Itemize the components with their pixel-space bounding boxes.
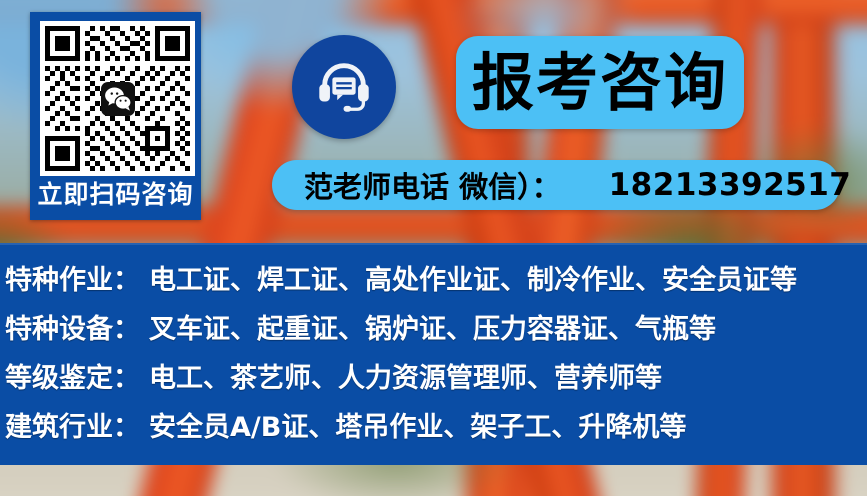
info-row-special-operations: 特种作业： 电工证、焊工证、高处作业证、制冷作业、安全员证等 [5, 257, 867, 305]
promo-poster: 立即扫码咨询 报考咨询 范老师电话 微信）： 18213392517 特种作业：… [0, 0, 867, 496]
info-row-value: 叉车证、起重证、锅炉证、压力容器证、气瓶等 [149, 306, 716, 354]
contact-phone-number[interactable]: 18213392517 [609, 167, 852, 203]
info-row-label: 特种设备： [5, 306, 140, 354]
title-pill: 报考咨询 [456, 36, 744, 129]
info-row-value: 电工、茶艺师、人力资源管理师、营养师等 [149, 355, 662, 403]
qr-matrix [45, 26, 190, 171]
headset-support-icon [313, 56, 375, 118]
wechat-logo-icon [101, 82, 135, 116]
wechat-bubbles-icon [101, 82, 135, 116]
info-row-value: 安全员A/B证、塔吊作业、架子工、升降机等 [149, 404, 686, 452]
info-row-grade-assessment: 等级鉴定： 电工、茶艺师、人力资源管理师、营养师等 [5, 355, 867, 403]
contact-phone-pill[interactable]: 范老师电话 微信）： 18213392517 [272, 160, 840, 210]
info-row-label: 建筑行业： [5, 404, 140, 452]
info-row-label: 特种作业： [5, 257, 140, 305]
certificate-rows: 特种作业： 电工证、焊工证、高处作业证、制冷作业、安全员证等 特种设备： 叉车证… [5, 243, 867, 465]
qr-caption: 立即扫码咨询 [34, 172, 197, 214]
title-text: 报考咨询 [472, 52, 728, 114]
info-row-value: 电工证、焊工证、高处作业证、制冷作业、安全员证等 [149, 257, 797, 305]
contact-label: 范老师电话 微信）： [304, 164, 561, 206]
qr-code-card[interactable]: 立即扫码咨询 [30, 12, 201, 220]
headset-support-badge [292, 35, 396, 139]
info-row-construction-industry: 建筑行业： 安全员A/B证、塔吊作业、架子工、升降机等 [5, 404, 867, 452]
certificate-categories-panel: 特种作业： 电工证、焊工证、高处作业证、制冷作业、安全员证等 特种设备： 叉车证… [0, 243, 867, 465]
info-row-special-equipment: 特种设备： 叉车证、起重证、锅炉证、压力容器证、气瓶等 [5, 306, 867, 354]
info-row-label: 等级鉴定： [5, 355, 140, 403]
qr-code-image[interactable] [40, 21, 195, 176]
